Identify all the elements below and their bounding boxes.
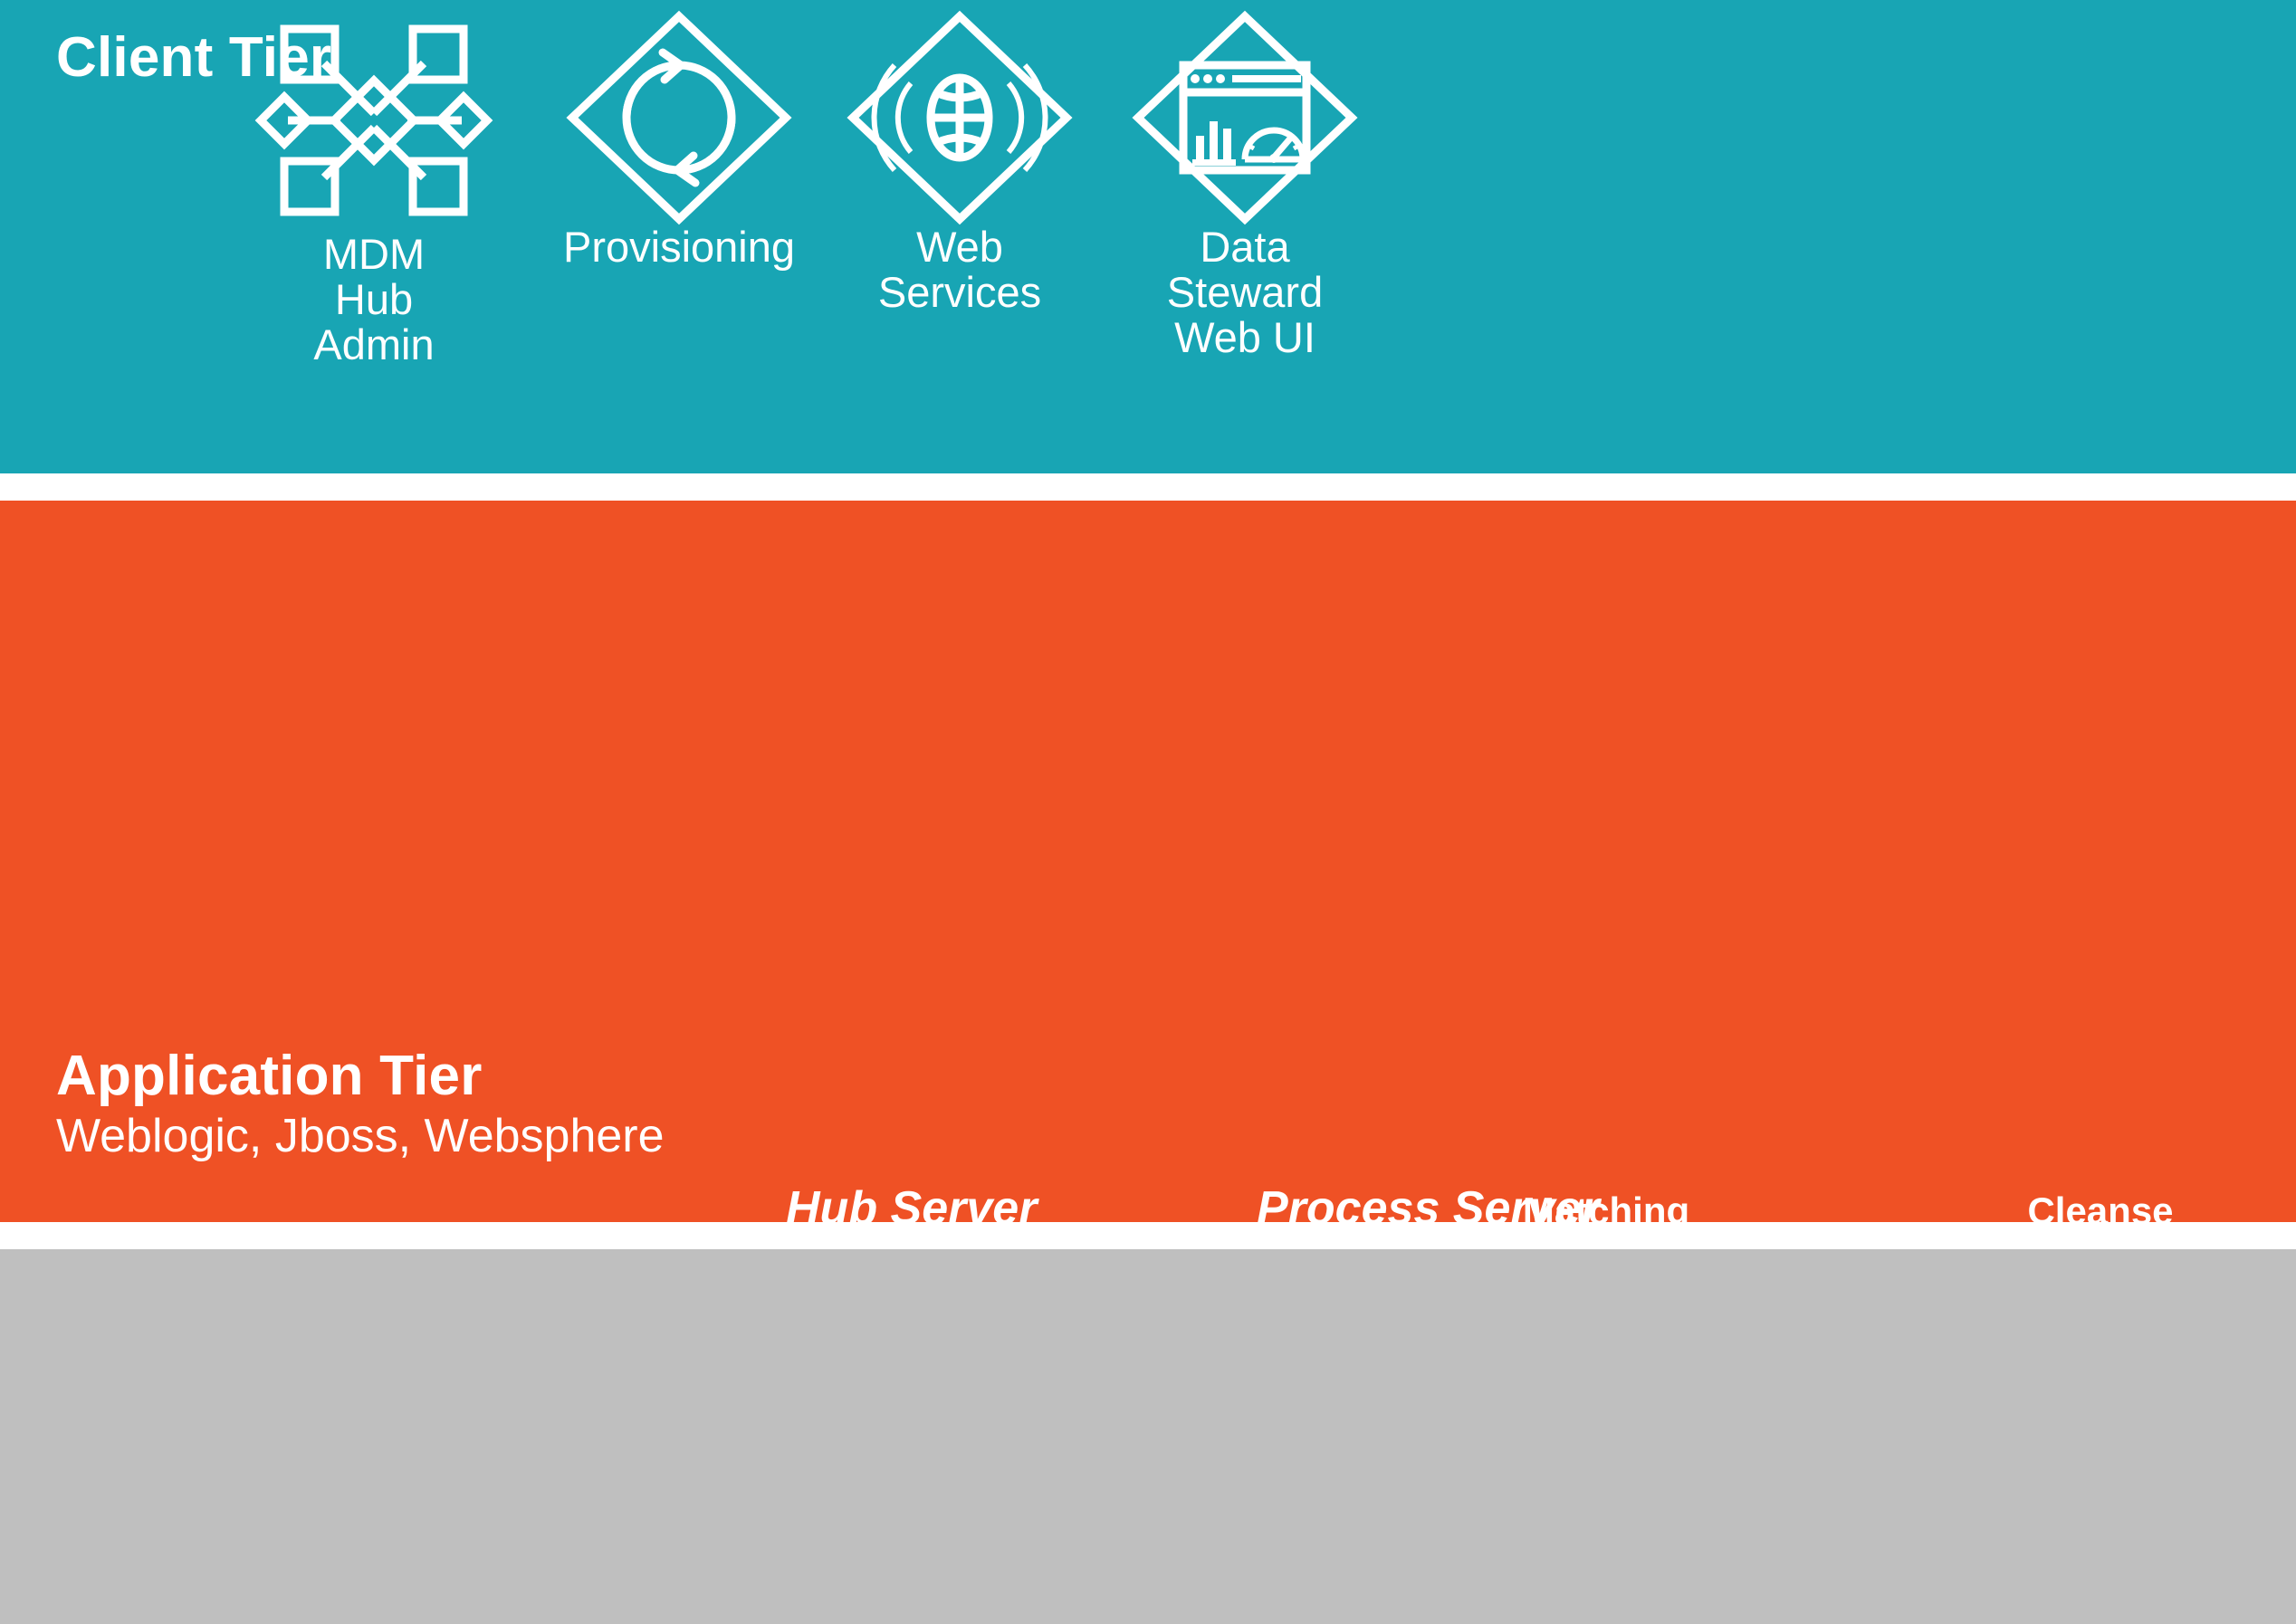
circular-arrows-icon — [561, 9, 797, 226]
application-tier-title: Application Tier — [56, 1044, 483, 1108]
client-tier-band: Client Tier — [0, 0, 2296, 473]
client-node-label: Provisioning — [563, 224, 795, 270]
client-node-label: Data Steward Web UI — [1167, 224, 1323, 359]
client-node-web-services[interactable]: Web Services — [842, 9, 1077, 281]
hub-server-title: Hub Server — [786, 1181, 1037, 1236]
client-node-data-steward-web-ui[interactable]: Data Steward Web UI — [1127, 9, 1363, 281]
client-node-provisioning[interactable]: Provisioning — [561, 9, 797, 281]
client-node-label: Web Services — [878, 224, 1041, 315]
network-nodes-icon — [225, 16, 523, 224]
application-tier-subtitle: Weblogic, Jboss, Websphere — [56, 1109, 665, 1163]
architecture-diagram: Client Tier — [0, 0, 2296, 1624]
application-tier-band: Application Tier Weblogic, Jboss, Websph… — [0, 501, 2296, 1222]
dashboard-window-icon — [1127, 9, 1363, 226]
client-node-label: MDM Hub Admin — [300, 232, 449, 367]
globe-signal-icon — [842, 9, 1077, 226]
database-tier-band: Database Tier Oracle, DB2, SQL Server Hu… — [0, 1249, 2296, 1624]
client-node-mdm-hub-admin[interactable]: MDM Hub Admin — [225, 16, 523, 288]
